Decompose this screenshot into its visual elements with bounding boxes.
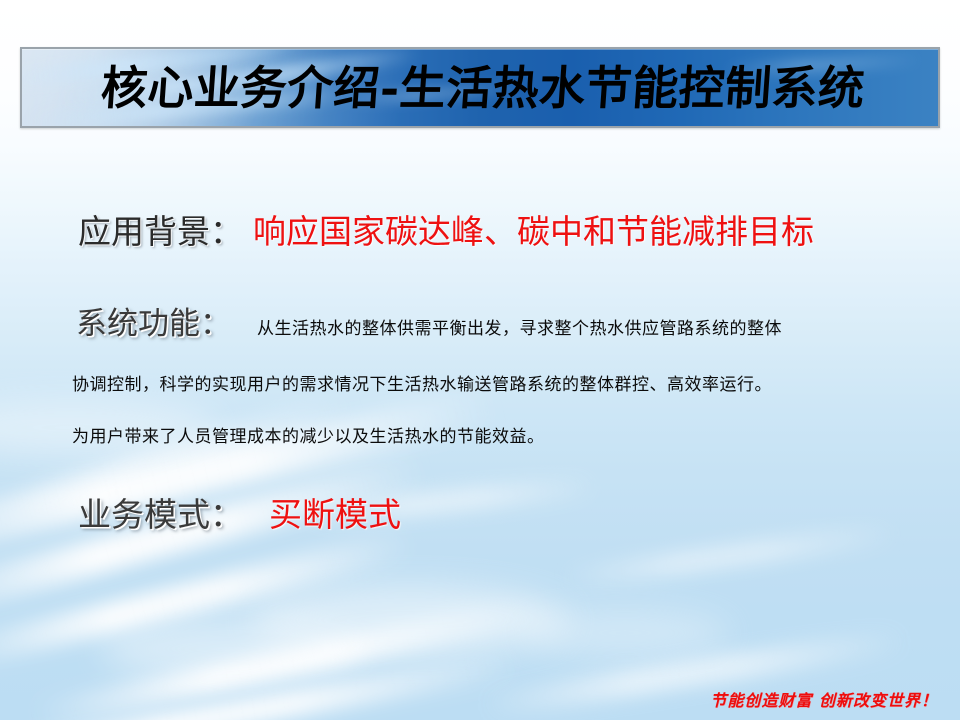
section-label-system-function: 系统功能：: [76, 306, 231, 342]
slide-canvas: 核心业务介绍-生活热水节能控制系统 应用背景：响应国家碳达峰、碳中和节能减排目标…: [0, 0, 960, 720]
section-value-system-function: 从生活热水的整体供需平衡出发，寻求整个热水供应管路系统的整体: [257, 319, 782, 339]
section-value-application-background: 响应国家碳达峰、碳中和节能减排目标: [253, 212, 814, 251]
body-line-2: 协调控制，科学的实现用户的需求情况下生活热水输送管路系统的整体群控、高效率运行。: [72, 370, 772, 395]
section-label-business-model: 业务模式：: [78, 495, 243, 534]
section-label-application-background: 应用背景：: [78, 212, 243, 251]
section-application-background: 应用背景：响应国家碳达峰、碳中和节能减排目标: [78, 205, 814, 253]
section-business-model: 业务模式：买断模式: [78, 488, 401, 536]
footer-slogan: 节能创造财富 创新改变世界！: [710, 687, 938, 711]
body-line-3: 为用户带来了人员管理成本的减少以及生活热水的节能效益。: [72, 422, 545, 447]
slide-content: 应用背景：响应国家碳达峰、碳中和节能减排目标 系统功能：从生活热水的整体供需平衡…: [0, 0, 960, 720]
section-value-business-model: 买断模式: [269, 495, 401, 534]
section-system-function: 系统功能：从生活热水的整体供需平衡出发，寻求整个热水供应管路系统的整体: [76, 298, 782, 343]
